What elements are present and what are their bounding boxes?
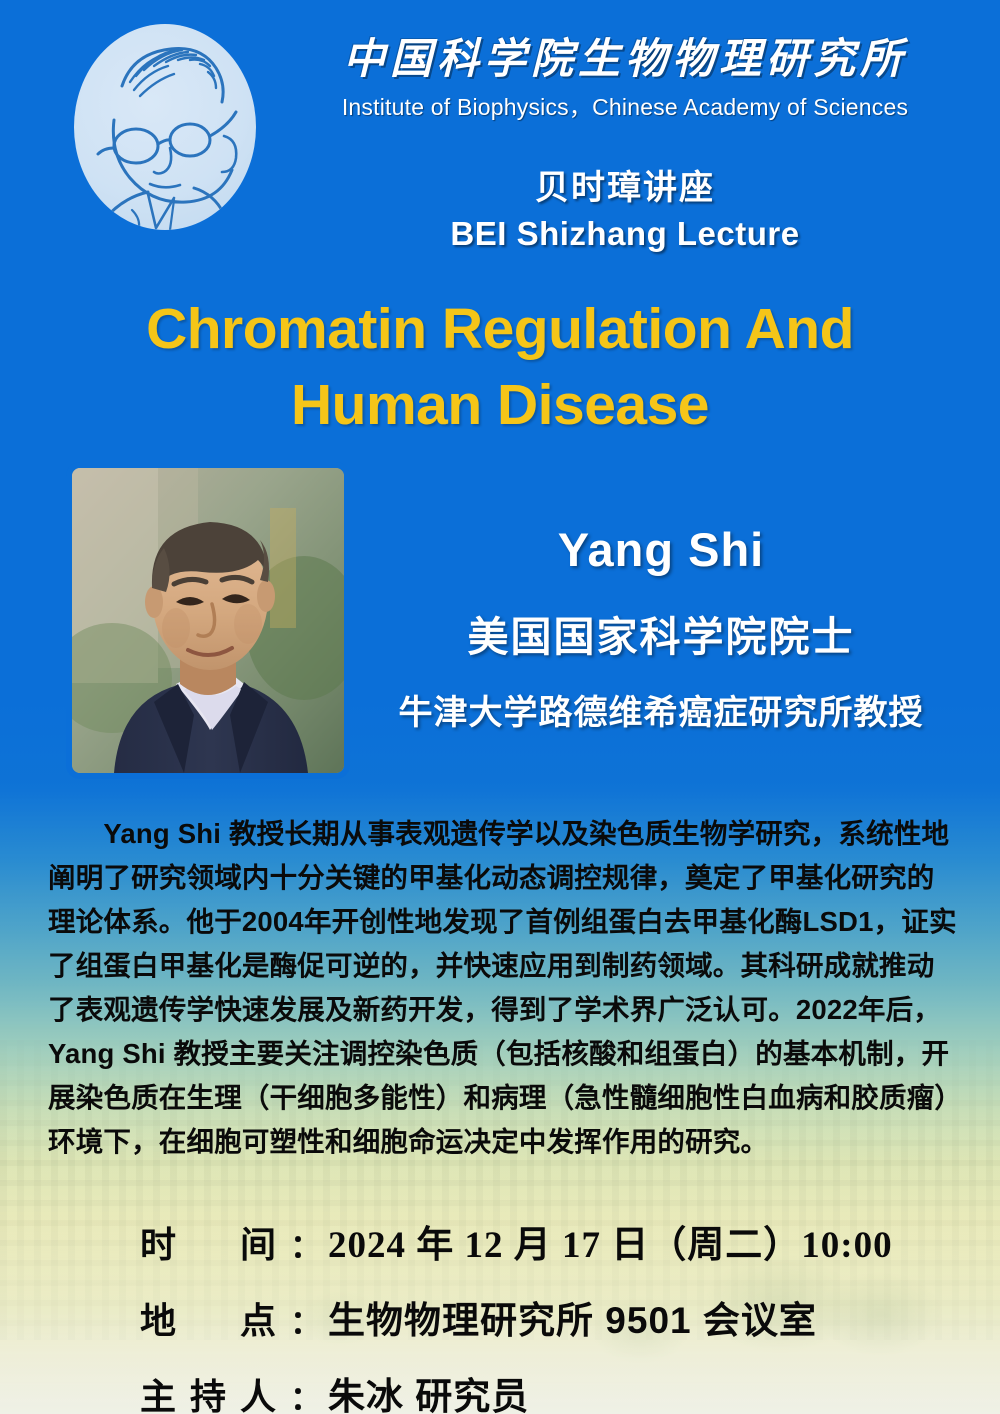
series-title-chinese: 贝时璋讲座 (280, 160, 970, 209)
talk-title-line-1: Chromatin Regulation And (146, 297, 854, 361)
bio-line: 理论体系。他于2004年开创性地发现了首例组蛋白去甲基化酶LSD1，证实 (48, 900, 954, 944)
bio-line: 环境下，在细胞可塑性和细胞命运决定中发挥作用的研究。 (48, 1120, 954, 1164)
detail-host: 主持人 ： 朱冰 研究员 (140, 1366, 893, 1414)
org-name-english: Institute of Biophysics，Chinese Academy … (280, 88, 970, 122)
detail-host-label: 主持人 (140, 1368, 290, 1414)
talk-title: Chromatin Regulation And Human Disease (40, 292, 960, 444)
detail-time: 时 间 ： 2024 年 12 月 17 日（周二）10:00 (140, 1214, 893, 1268)
bio-line: Yang Shi 教授主要关注调控染色质（包括核酸和组蛋白）的基本机制，开 (48, 1032, 954, 1076)
bio-line: 展染色质在生理（干细胞多能性）和病理（急性髓细胞性白血病和胶质瘤） (48, 1076, 954, 1120)
detail-location-colon: ： (290, 1297, 328, 1343)
speaker-affiliation-1: 美国国家科学院院士 (350, 603, 972, 663)
event-details: 时 间 ： 2024 年 12 月 17 日（周二）10:00 地 点 ： 生物… (140, 1214, 893, 1414)
detail-location-value: 生物物理研究所 9501 会议室 (328, 1290, 817, 1344)
speaker-name: Yang Shi (350, 522, 972, 577)
detail-time-label: 时 间 (140, 1216, 290, 1268)
talk-title-line-2: Human Disease (40, 368, 960, 444)
bio-line: 了表观遗传学快速发展及新药开发，得到了学术界广泛认可。2022年后， (48, 988, 954, 1032)
bio-line: 了组蛋白甲基化是酶促可逆的，并快速应用到制药领域。其科研成就推动 (48, 944, 954, 988)
detail-location-label: 地 点 (140, 1292, 290, 1344)
speaker-biography: Yang Shi 教授长期从事表观遗传学以及染色质生物学研究，系统性地 阐明了研… (48, 812, 954, 1164)
speaker-affiliation-2: 牛津大学路德维希癌症研究所教授 (350, 685, 972, 734)
speaker-info: Yang Shi 美国国家科学院院士 牛津大学路德维希癌症研究所教授 (350, 522, 972, 734)
detail-time-colon: ： (290, 1221, 328, 1267)
detail-host-colon: ： (290, 1373, 328, 1414)
speaker-portrait-photo (66, 462, 350, 779)
detail-host-value: 朱冰 研究员 (328, 1366, 529, 1414)
bio-line: 阐明了研究领域内十分关键的甲基化动态调控规律，奠定了甲基化研究的 (48, 856, 954, 900)
series-title-english: BEI Shizhang Lecture (280, 215, 970, 253)
organization-names: 中国科学院生物物理研究所 Institute of Biophysics，Chi… (280, 36, 970, 122)
bio-line: Yang Shi 教授长期从事表观遗传学以及染色质生物学研究，系统性地 (48, 812, 954, 856)
lecture-poster: 中国科学院生物物理研究所 Institute of Biophysics，Chi… (0, 0, 1000, 1414)
bei-shizhang-portrait-logo-icon (74, 24, 256, 230)
lecture-series-title: 贝时璋讲座 BEI Shizhang Lecture (280, 160, 970, 253)
detail-location: 地 点 ： 生物物理研究所 9501 会议室 (140, 1290, 893, 1344)
detail-time-value: 2024 年 12 月 17 日（周二）10:00 (328, 1214, 893, 1268)
org-name-chinese: 中国科学院生物物理研究所 (280, 36, 970, 82)
